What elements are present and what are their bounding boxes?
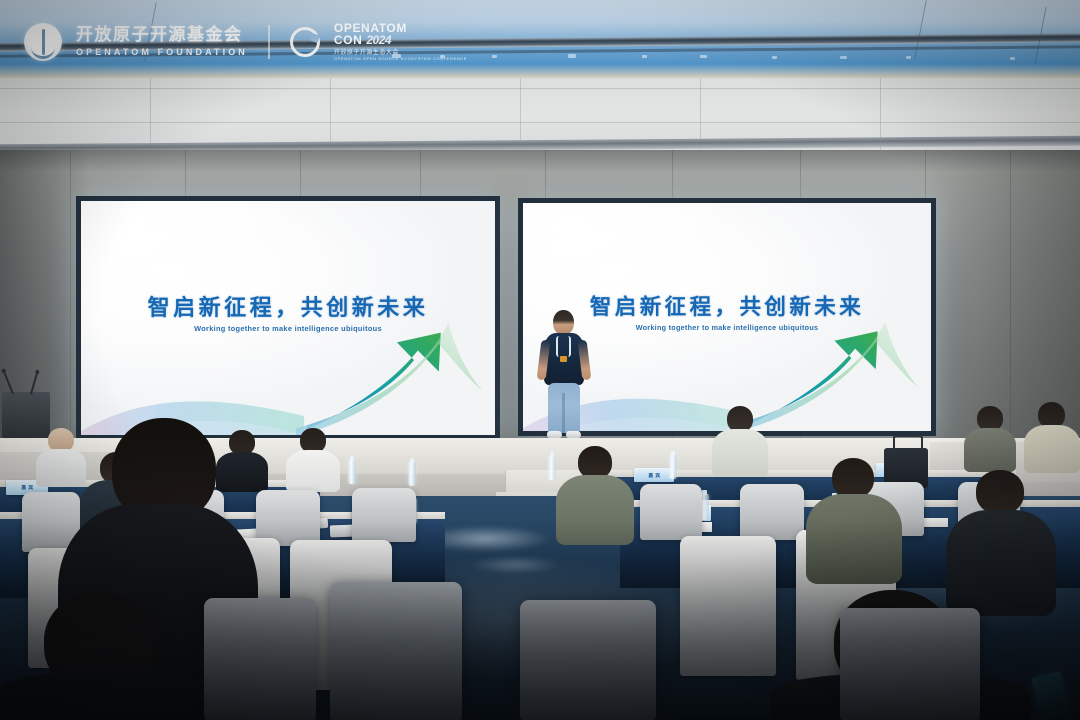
ring-icon <box>290 27 320 57</box>
name-card-text: 嘉 宾 <box>21 484 33 491</box>
audience-member-foreground <box>0 592 210 720</box>
water-bottle <box>408 462 416 486</box>
rigging-wire <box>914 0 926 59</box>
led-screen-left[interactable]: 智启新征程，共创新未来 Working together to make int… <box>76 196 500 440</box>
water-bottle <box>348 460 356 484</box>
speaker-badge <box>560 356 567 362</box>
foundation-name-en: OPENATOM FOUNDATION <box>76 48 248 57</box>
keynote-speaker <box>536 310 592 442</box>
speaker-shoe-left <box>547 431 562 438</box>
chair-foreground <box>520 600 656 720</box>
audience-member <box>556 446 634 542</box>
audience-member <box>946 470 1056 610</box>
chair <box>740 484 804 540</box>
water-bottle <box>548 456 556 480</box>
stage-top-banner: 开放原子开源基金会 OPENATOM FOUNDATION OPENATOM C… <box>0 0 1080 78</box>
foundation-wordmark: 开放原子开源基金会 OPENATOM FOUNDATION <box>76 26 248 57</box>
atom-mark-icon <box>24 23 62 61</box>
audience-member <box>1024 402 1080 468</box>
arrow-swoosh-icon <box>296 318 486 435</box>
slide-subtitle-left: Working together to make intelligence ub… <box>81 324 495 333</box>
chair <box>352 488 416 542</box>
audience-member <box>964 406 1016 468</box>
chair-foreground <box>204 598 316 720</box>
audience-member <box>712 406 768 472</box>
chair <box>680 536 776 676</box>
logo-divider <box>268 25 270 59</box>
led-screen-left-surface: 智启新征程，共创新未来 Working together to make int… <box>81 201 495 435</box>
name-card: 嘉 宾 <box>634 468 674 482</box>
chair-foreground <box>840 608 980 720</box>
speaker-jeans <box>548 383 580 433</box>
chair-foreground <box>330 582 462 720</box>
water-bottle <box>669 455 677 479</box>
speaker-head <box>553 310 574 335</box>
slide-title-left: 智启新征程，共创新未来 <box>81 290 495 322</box>
wall-top-shadow <box>0 150 1080 172</box>
conference-year: 2024 <box>366 34 391 46</box>
speaker-shoe-right <box>566 431 581 438</box>
audience-member <box>286 428 340 488</box>
audience-member <box>806 458 902 578</box>
conference-photo-scene: 开放原子开源基金会 OPENATOM FOUNDATION OPENATOM C… <box>0 0 1080 720</box>
chair <box>640 484 702 540</box>
conference-name-2: CON <box>334 34 362 46</box>
name-card-text: 嘉 宾 <box>648 472 660 479</box>
speaker-lanyard <box>556 336 571 357</box>
foundation-name-cn: 开放原子开源基金会 <box>76 26 248 43</box>
